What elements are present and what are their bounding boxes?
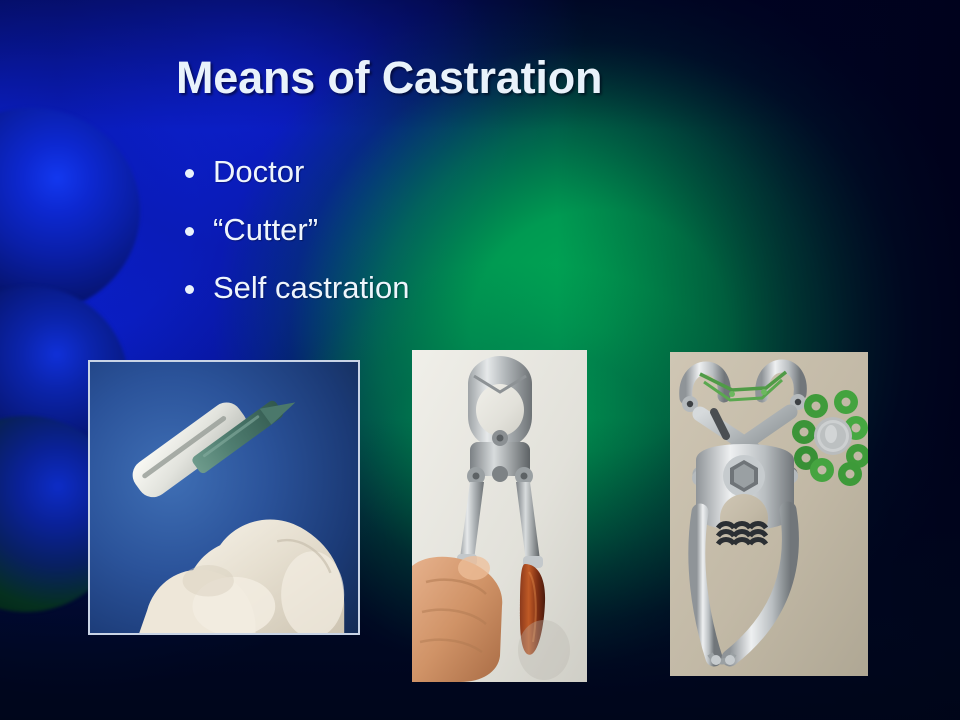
bullet-list: Doctor “Cutter” Self castration: [185, 152, 805, 326]
slide-title: Means of Castration: [176, 52, 916, 104]
presentation-slide: Means of Castration Doctor “Cutter” Self…: [0, 0, 960, 720]
bullet-dot-icon: [185, 169, 194, 178]
list-item: “Cutter”: [185, 210, 805, 268]
bullet-dot-icon: [185, 285, 194, 294]
image-emasculatome-in-hand: [412, 350, 587, 682]
image-scalpel-in-gloved-hand: [88, 360, 360, 635]
list-item: Doctor: [185, 152, 805, 210]
bullet-dot-icon: [185, 227, 194, 236]
bullet-label: Doctor: [213, 152, 304, 192]
bullet-label: Self castration: [213, 268, 409, 308]
bullet-label: “Cutter”: [213, 210, 318, 250]
image-elastrator-with-bands: [670, 352, 868, 676]
list-item: Self castration: [185, 268, 805, 326]
